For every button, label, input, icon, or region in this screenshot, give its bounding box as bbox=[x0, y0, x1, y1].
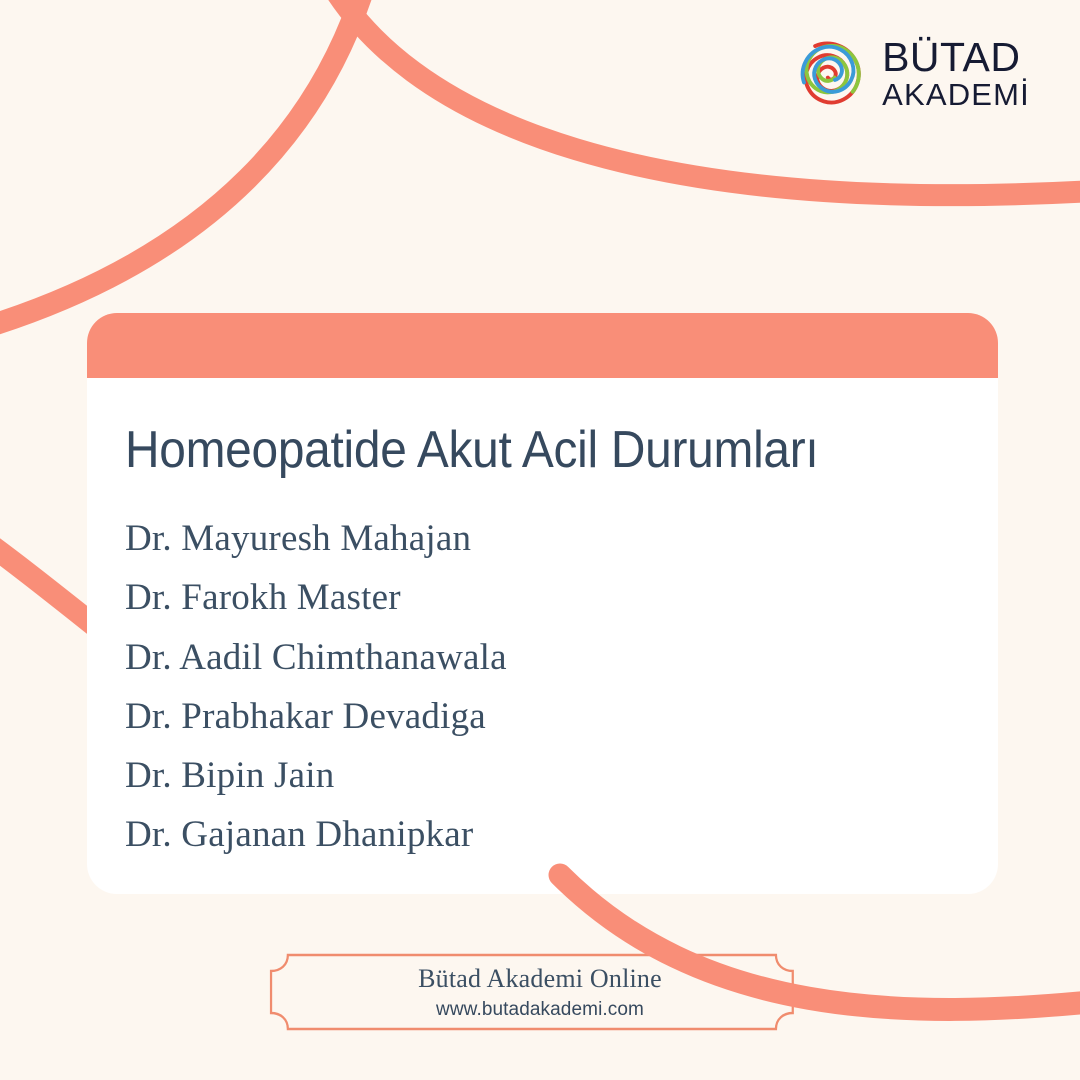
speaker-list: Dr. Mayuresh Mahajan Dr. Farokh Master D… bbox=[125, 509, 958, 864]
footer-title: Bütad Akademi Online bbox=[418, 963, 662, 996]
list-item: Dr. Farokh Master bbox=[125, 568, 958, 627]
card-body: Homeopatide Akut Acil Durumları Dr. Mayu… bbox=[87, 378, 998, 894]
list-item: Dr. Gajanan Dhanipkar bbox=[125, 805, 958, 864]
footer-banner: Bütad Akademi Online www.butadakademi.co… bbox=[268, 953, 812, 1031]
decorative-arc-top-left bbox=[0, 0, 372, 332]
list-item: Dr. Aadil Chimthanawala bbox=[125, 628, 958, 687]
content-card: Homeopatide Akut Acil Durumları Dr. Mayu… bbox=[87, 313, 998, 894]
card-header-band bbox=[87, 313, 998, 378]
logo-word-sub: AKADEMİ bbox=[882, 80, 1030, 110]
list-item: Dr. Mayuresh Mahajan bbox=[125, 509, 958, 568]
list-item: Dr. Prabhakar Devadiga bbox=[125, 687, 958, 746]
brand-logo: BÜTAD AKADEMİ bbox=[794, 38, 1030, 110]
logo-word-main: BÜTAD bbox=[882, 38, 1030, 77]
logo-wordmark: BÜTAD AKADEMİ bbox=[882, 38, 1030, 110]
footer-url[interactable]: www.butadakademi.com bbox=[436, 999, 644, 1021]
poster-canvas: BÜTAD AKADEMİ Homeopatide Akut Acil Duru… bbox=[0, 0, 1080, 1080]
page-title: Homeopatide Akut Acil Durumları bbox=[125, 422, 891, 479]
list-item: Dr. Bipin Jain bbox=[125, 746, 958, 805]
footer-text-group: Bütad Akademi Online www.butadakademi.co… bbox=[268, 953, 812, 1031]
spiral-logo-icon bbox=[794, 38, 866, 110]
